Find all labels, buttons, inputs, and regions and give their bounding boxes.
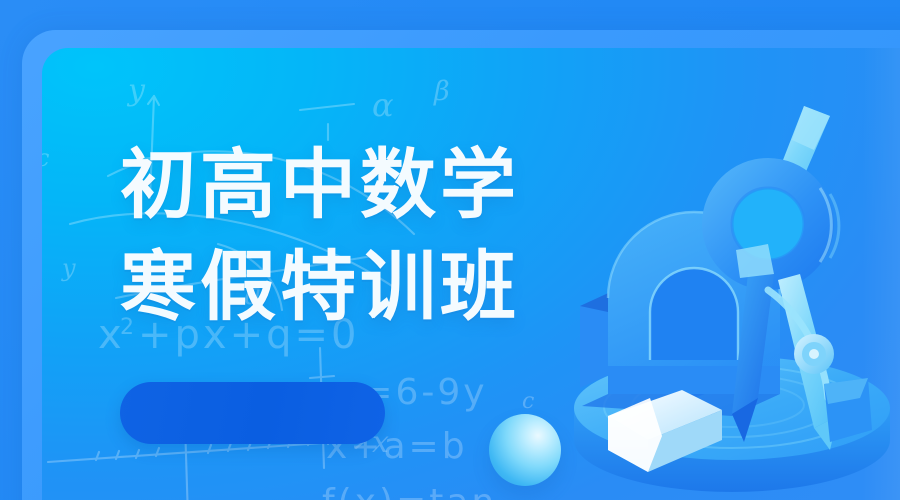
svg-text:y: y <box>126 73 146 108</box>
svg-text:β: β <box>433 76 450 107</box>
svg-text:α: α <box>372 86 394 124</box>
svg-text:f(x)=tan: f(x)=tan <box>322 482 497 500</box>
svg-text:c: c <box>522 389 534 414</box>
svg-text:c: c <box>42 144 49 172</box>
title-line-2: 寒假特训班 <box>120 236 520 338</box>
sphere-decoration <box>489 414 561 486</box>
subtitle-bar[interactable] <box>120 382 385 444</box>
title-line-1: 初高中数学 <box>120 134 520 236</box>
banner-card: y α β a c y c a x x 2 +px+q=0 x=6-9y x+a… <box>42 48 900 500</box>
promo-banner: y α β a c y c a x x 2 +px+q=0 x=6-9y x+a… <box>0 0 900 500</box>
svg-text:y: y <box>61 254 76 282</box>
title-block: 初高中数学 寒假特训班 <box>120 134 520 338</box>
math-tools-illustration <box>562 98 900 500</box>
